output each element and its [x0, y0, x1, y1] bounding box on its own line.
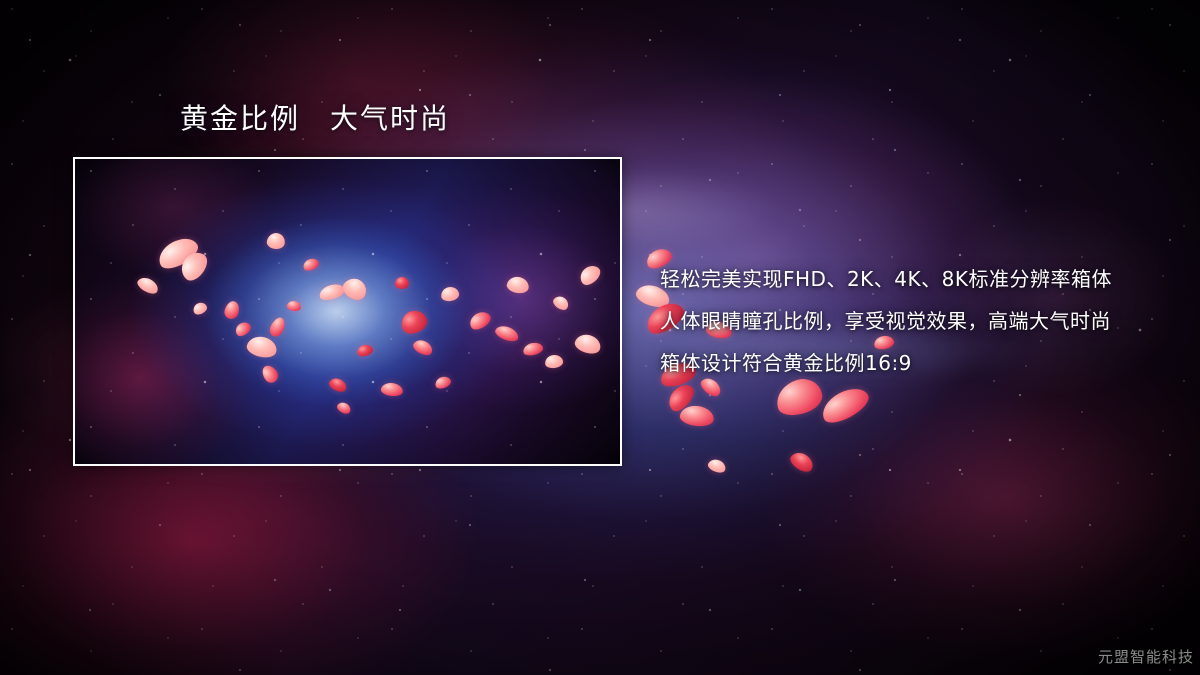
framed-photo — [73, 157, 622, 466]
page-title: 黄金比例 大气时尚 — [180, 102, 450, 136]
body-line: 箱体设计符合黄金比例16:9 — [660, 342, 1160, 384]
photo-petal — [395, 277, 409, 289]
body-line: 人体眼睛瞳孔比例，享受视觉效果，高端大气时尚 — [660, 300, 1160, 342]
watermark-label: 元盟智能科技 — [1098, 646, 1194, 667]
body-line: 轻松完美实现FHD、2K、4K、8K标准分辨率箱体 — [660, 258, 1160, 300]
body-text-block: 轻松完美实现FHD、2K、4K、8K标准分辨率箱体 人体眼睛瞳孔比例，享受视觉效… — [660, 258, 1160, 384]
photo-starfield — [75, 159, 620, 464]
presentation-slide: 黄金比例 大气时尚 — [0, 0, 1200, 675]
